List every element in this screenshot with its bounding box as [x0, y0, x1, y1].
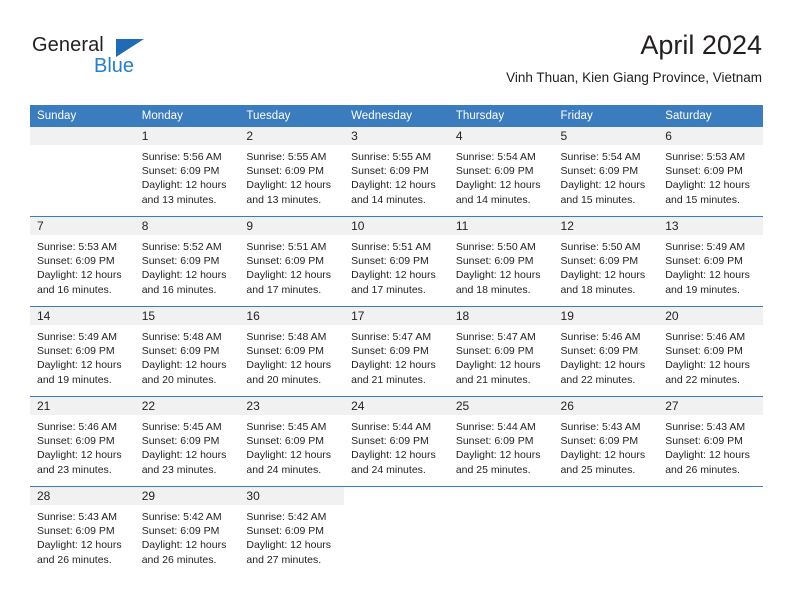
sunset-text: Sunset: 6:09 PM [142, 164, 233, 178]
daylight-text-line1: Daylight: 12 hours [456, 448, 547, 462]
daylight-text-line2: and 19 minutes. [665, 283, 756, 297]
calendar-header-row: Sunday Monday Tuesday Wednesday Thursday… [30, 105, 763, 127]
day-cell-inner: 24 Sunrise: 5:44 AM Sunset: 6:09 PM Dayl… [344, 397, 449, 486]
sunset-text: Sunset: 6:09 PM [665, 254, 756, 268]
daylight-text-line1: Daylight: 12 hours [665, 268, 756, 282]
daylight-text-line1: Daylight: 12 hours [665, 448, 756, 462]
daylight-text-line1: Daylight: 12 hours [37, 358, 128, 372]
calendar-day-cell[interactable]: 30 Sunrise: 5:42 AM Sunset: 6:09 PM Dayl… [239, 487, 344, 577]
calendar-week-row: 14 Sunrise: 5:49 AM Sunset: 6:09 PM Dayl… [30, 307, 763, 397]
calendar-day-cell[interactable]: 18 Sunrise: 5:47 AM Sunset: 6:09 PM Dayl… [449, 307, 554, 397]
weekday-header-sunday: Sunday [30, 105, 135, 127]
sunset-text: Sunset: 6:09 PM [246, 344, 337, 358]
day-details: Sunrise: 5:44 AM Sunset: 6:09 PM Dayligh… [449, 415, 554, 477]
calendar-day-cell-empty [658, 487, 763, 577]
sunrise-text: Sunrise: 5:45 AM [246, 420, 337, 434]
day-cell-inner: 11 Sunrise: 5:50 AM Sunset: 6:09 PM Dayl… [449, 217, 554, 306]
title-block: April 2024 Vinh Thuan, Kien Giang Provin… [506, 28, 762, 88]
day-number: 26 [554, 397, 659, 415]
sunset-text: Sunset: 6:09 PM [561, 254, 652, 268]
daylight-text-line1: Daylight: 12 hours [561, 358, 652, 372]
day-cell-inner: 14 Sunrise: 5:49 AM Sunset: 6:09 PM Dayl… [30, 307, 135, 396]
day-number: 21 [30, 397, 135, 415]
daylight-text-line2: and 24 minutes. [246, 463, 337, 477]
daylight-text-line2: and 15 minutes. [561, 193, 652, 207]
day-number: 10 [344, 217, 449, 235]
day-details: Sunrise: 5:54 AM Sunset: 6:09 PM Dayligh… [449, 145, 554, 207]
daylight-text-line2: and 22 minutes. [665, 373, 756, 387]
calendar-day-cell[interactable]: 24 Sunrise: 5:44 AM Sunset: 6:09 PM Dayl… [344, 397, 449, 487]
daylight-text-line2: and 14 minutes. [351, 193, 442, 207]
day-details: Sunrise: 5:56 AM Sunset: 6:09 PM Dayligh… [135, 145, 240, 207]
day-number: 9 [239, 217, 344, 235]
sunset-text: Sunset: 6:09 PM [351, 344, 442, 358]
day-details: Sunrise: 5:53 AM Sunset: 6:09 PM Dayligh… [30, 235, 135, 297]
calendar-day-cell[interactable]: 3 Sunrise: 5:55 AM Sunset: 6:09 PM Dayli… [344, 127, 449, 217]
day-details: Sunrise: 5:44 AM Sunset: 6:09 PM Dayligh… [344, 415, 449, 477]
sunset-text: Sunset: 6:09 PM [142, 254, 233, 268]
day-cell-inner: 17 Sunrise: 5:47 AM Sunset: 6:09 PM Dayl… [344, 307, 449, 396]
daylight-text-line2: and 18 minutes. [561, 283, 652, 297]
daylight-text-line1: Daylight: 12 hours [37, 448, 128, 462]
sunset-text: Sunset: 6:09 PM [37, 254, 128, 268]
day-number: 12 [554, 217, 659, 235]
day-cell-inner: 18 Sunrise: 5:47 AM Sunset: 6:09 PM Dayl… [449, 307, 554, 396]
sunrise-text: Sunrise: 5:53 AM [37, 240, 128, 254]
sunset-text: Sunset: 6:09 PM [246, 524, 337, 538]
day-number: 5 [554, 127, 659, 145]
sunrise-text: Sunrise: 5:55 AM [246, 150, 337, 164]
general-blue-logo[interactable]: General Blue [32, 34, 172, 86]
day-details: Sunrise: 5:51 AM Sunset: 6:09 PM Dayligh… [344, 235, 449, 297]
day-details: Sunrise: 5:53 AM Sunset: 6:09 PM Dayligh… [658, 145, 763, 207]
day-cell-inner [30, 127, 135, 216]
day-cell-inner: 19 Sunrise: 5:46 AM Sunset: 6:09 PM Dayl… [554, 307, 659, 396]
calendar-day-cell[interactable]: 20 Sunrise: 5:46 AM Sunset: 6:09 PM Dayl… [658, 307, 763, 397]
daylight-text-line2: and 25 minutes. [561, 463, 652, 477]
sunrise-text: Sunrise: 5:53 AM [665, 150, 756, 164]
day-number [449, 487, 554, 505]
day-details: Sunrise: 5:55 AM Sunset: 6:09 PM Dayligh… [239, 145, 344, 207]
day-cell-inner: 3 Sunrise: 5:55 AM Sunset: 6:09 PM Dayli… [344, 127, 449, 216]
sunrise-text: Sunrise: 5:55 AM [351, 150, 442, 164]
sunrise-text: Sunrise: 5:49 AM [37, 330, 128, 344]
sunset-text: Sunset: 6:09 PM [37, 434, 128, 448]
calendar-day-cell[interactable]: 7 Sunrise: 5:53 AM Sunset: 6:09 PM Dayli… [30, 217, 135, 307]
daylight-text-line1: Daylight: 12 hours [246, 358, 337, 372]
day-number: 1 [135, 127, 240, 145]
daylight-text-line1: Daylight: 12 hours [351, 268, 442, 282]
sunset-text: Sunset: 6:09 PM [246, 434, 337, 448]
day-cell-inner: 30 Sunrise: 5:42 AM Sunset: 6:09 PM Dayl… [239, 487, 344, 576]
calendar-grid: Sunday Monday Tuesday Wednesday Thursday… [30, 105, 763, 576]
daylight-text-line1: Daylight: 12 hours [456, 358, 547, 372]
calendar-day-cell[interactable]: 6 Sunrise: 5:53 AM Sunset: 6:09 PM Dayli… [658, 127, 763, 217]
daylight-text-line1: Daylight: 12 hours [351, 358, 442, 372]
calendar-day-cell[interactable]: 12 Sunrise: 5:50 AM Sunset: 6:09 PM Dayl… [554, 217, 659, 307]
daylight-text-line2: and 17 minutes. [351, 283, 442, 297]
weekday-header-thursday: Thursday [449, 105, 554, 127]
daylight-text-line1: Daylight: 12 hours [246, 268, 337, 282]
calendar-day-cell-empty [344, 487, 449, 577]
day-cell-inner: 6 Sunrise: 5:53 AM Sunset: 6:09 PM Dayli… [658, 127, 763, 216]
day-cell-inner [449, 487, 554, 576]
calendar-day-cell[interactable]: 16 Sunrise: 5:48 AM Sunset: 6:09 PM Dayl… [239, 307, 344, 397]
sunrise-text: Sunrise: 5:51 AM [351, 240, 442, 254]
logo-text-general: General [32, 34, 104, 57]
logo-text-blue: Blue [94, 55, 134, 78]
daylight-text-line1: Daylight: 12 hours [665, 358, 756, 372]
day-cell-inner: 13 Sunrise: 5:49 AM Sunset: 6:09 PM Dayl… [658, 217, 763, 306]
day-details: Sunrise: 5:42 AM Sunset: 6:09 PM Dayligh… [239, 505, 344, 567]
daylight-text-line1: Daylight: 12 hours [37, 268, 128, 282]
day-details: Sunrise: 5:55 AM Sunset: 6:09 PM Dayligh… [344, 145, 449, 207]
day-details: Sunrise: 5:49 AM Sunset: 6:09 PM Dayligh… [30, 325, 135, 387]
day-cell-inner: 12 Sunrise: 5:50 AM Sunset: 6:09 PM Dayl… [554, 217, 659, 306]
page-subtitle: Vinh Thuan, Kien Giang Province, Vietnam [506, 68, 762, 88]
calendar-day-cell[interactable]: 17 Sunrise: 5:47 AM Sunset: 6:09 PM Dayl… [344, 307, 449, 397]
day-details: Sunrise: 5:52 AM Sunset: 6:09 PM Dayligh… [135, 235, 240, 297]
daylight-text-line2: and 22 minutes. [561, 373, 652, 387]
daylight-text-line1: Daylight: 12 hours [456, 178, 547, 192]
calendar-day-cell[interactable]: 19 Sunrise: 5:46 AM Sunset: 6:09 PM Dayl… [554, 307, 659, 397]
daylight-text-line2: and 13 minutes. [142, 193, 233, 207]
day-number: 29 [135, 487, 240, 505]
sunrise-text: Sunrise: 5:49 AM [665, 240, 756, 254]
day-cell-inner: 20 Sunrise: 5:46 AM Sunset: 6:09 PM Dayl… [658, 307, 763, 396]
daylight-text-line2: and 13 minutes. [246, 193, 337, 207]
sunrise-text: Sunrise: 5:48 AM [142, 330, 233, 344]
daylight-text-line1: Daylight: 12 hours [142, 268, 233, 282]
day-number: 11 [449, 217, 554, 235]
calendar-day-cell[interactable]: 2 Sunrise: 5:55 AM Sunset: 6:09 PM Dayli… [239, 127, 344, 217]
daylight-text-line1: Daylight: 12 hours [142, 448, 233, 462]
calendar-day-cell[interactable]: 10 Sunrise: 5:51 AM Sunset: 6:09 PM Dayl… [344, 217, 449, 307]
calendar-day-cell[interactable]: 29 Sunrise: 5:42 AM Sunset: 6:09 PM Dayl… [135, 487, 240, 577]
calendar-day-cell[interactable]: 28 Sunrise: 5:43 AM Sunset: 6:09 PM Dayl… [30, 487, 135, 577]
sunset-text: Sunset: 6:09 PM [456, 164, 547, 178]
weekday-header-monday: Monday [135, 105, 240, 127]
day-details: Sunrise: 5:47 AM Sunset: 6:09 PM Dayligh… [449, 325, 554, 387]
calendar-page: General Blue April 2024 Vinh Thuan, Kien… [0, 0, 792, 612]
sunset-text: Sunset: 6:09 PM [37, 524, 128, 538]
daylight-text-line1: Daylight: 12 hours [246, 538, 337, 552]
page-title: April 2024 [506, 28, 762, 62]
day-details: Sunrise: 5:45 AM Sunset: 6:09 PM Dayligh… [135, 415, 240, 477]
sunset-text: Sunset: 6:09 PM [456, 254, 547, 268]
day-number: 16 [239, 307, 344, 325]
daylight-text-line1: Daylight: 12 hours [246, 178, 337, 192]
calendar-day-cell[interactable]: 22 Sunrise: 5:45 AM Sunset: 6:09 PM Dayl… [135, 397, 240, 487]
day-cell-inner [554, 487, 659, 576]
day-details: Sunrise: 5:45 AM Sunset: 6:09 PM Dayligh… [239, 415, 344, 477]
calendar-day-cell-empty [554, 487, 659, 577]
calendar-day-cell[interactable]: 4 Sunrise: 5:54 AM Sunset: 6:09 PM Dayli… [449, 127, 554, 217]
day-cell-inner: 29 Sunrise: 5:42 AM Sunset: 6:09 PM Dayl… [135, 487, 240, 576]
daylight-text-line2: and 21 minutes. [456, 373, 547, 387]
calendar-day-cell[interactable]: 14 Sunrise: 5:49 AM Sunset: 6:09 PM Dayl… [30, 307, 135, 397]
daylight-text-line2: and 20 minutes. [142, 373, 233, 387]
sunrise-text: Sunrise: 5:44 AM [351, 420, 442, 434]
weekday-header-wednesday: Wednesday [344, 105, 449, 127]
day-details: Sunrise: 5:43 AM Sunset: 6:09 PM Dayligh… [554, 415, 659, 477]
day-number: 14 [30, 307, 135, 325]
day-cell-inner: 8 Sunrise: 5:52 AM Sunset: 6:09 PM Dayli… [135, 217, 240, 306]
sunrise-text: Sunrise: 5:48 AM [246, 330, 337, 344]
day-number: 13 [658, 217, 763, 235]
calendar-week-row: 28 Sunrise: 5:43 AM Sunset: 6:09 PM Dayl… [30, 487, 763, 577]
sunrise-text: Sunrise: 5:43 AM [37, 510, 128, 524]
daylight-text-line2: and 24 minutes. [351, 463, 442, 477]
day-cell-inner: 4 Sunrise: 5:54 AM Sunset: 6:09 PM Dayli… [449, 127, 554, 216]
daylight-text-line2: and 26 minutes. [37, 553, 128, 567]
calendar-week-row: 21 Sunrise: 5:46 AM Sunset: 6:09 PM Dayl… [30, 397, 763, 487]
sunset-text: Sunset: 6:09 PM [351, 254, 442, 268]
day-cell-inner [344, 487, 449, 576]
day-number: 24 [344, 397, 449, 415]
sunrise-text: Sunrise: 5:50 AM [561, 240, 652, 254]
daylight-text-line2: and 16 minutes. [37, 283, 128, 297]
calendar-day-cell[interactable]: 25 Sunrise: 5:44 AM Sunset: 6:09 PM Dayl… [449, 397, 554, 487]
daylight-text-line2: and 27 minutes. [246, 553, 337, 567]
calendar-day-cell[interactable]: 1 Sunrise: 5:56 AM Sunset: 6:09 PM Dayli… [135, 127, 240, 217]
daylight-text-line1: Daylight: 12 hours [142, 358, 233, 372]
daylight-text-line1: Daylight: 12 hours [665, 178, 756, 192]
page-header: General Blue April 2024 Vinh Thuan, Kien… [30, 28, 762, 96]
sunrise-text: Sunrise: 5:50 AM [456, 240, 547, 254]
day-number: 2 [239, 127, 344, 145]
sunset-text: Sunset: 6:09 PM [351, 164, 442, 178]
day-details: Sunrise: 5:46 AM Sunset: 6:09 PM Dayligh… [30, 415, 135, 477]
daylight-text-line2: and 18 minutes. [456, 283, 547, 297]
day-cell-inner: 7 Sunrise: 5:53 AM Sunset: 6:09 PM Dayli… [30, 217, 135, 306]
day-cell-inner [658, 487, 763, 576]
day-number: 28 [30, 487, 135, 505]
day-number: 17 [344, 307, 449, 325]
day-cell-inner: 9 Sunrise: 5:51 AM Sunset: 6:09 PM Dayli… [239, 217, 344, 306]
day-number: 18 [449, 307, 554, 325]
day-number: 4 [449, 127, 554, 145]
day-number [344, 487, 449, 505]
calendar-week-row: 1 Sunrise: 5:56 AM Sunset: 6:09 PM Dayli… [30, 127, 763, 217]
day-cell-inner: 10 Sunrise: 5:51 AM Sunset: 6:09 PM Dayl… [344, 217, 449, 306]
day-cell-inner: 1 Sunrise: 5:56 AM Sunset: 6:09 PM Dayli… [135, 127, 240, 216]
day-cell-inner: 23 Sunrise: 5:45 AM Sunset: 6:09 PM Dayl… [239, 397, 344, 486]
day-number [658, 487, 763, 505]
daylight-text-line2: and 23 minutes. [142, 463, 233, 477]
sunset-text: Sunset: 6:09 PM [561, 344, 652, 358]
calendar-day-cell[interactable]: 27 Sunrise: 5:43 AM Sunset: 6:09 PM Dayl… [658, 397, 763, 487]
day-details: Sunrise: 5:54 AM Sunset: 6:09 PM Dayligh… [554, 145, 659, 207]
calendar-day-cell[interactable]: 9 Sunrise: 5:51 AM Sunset: 6:09 PM Dayli… [239, 217, 344, 307]
day-details: Sunrise: 5:46 AM Sunset: 6:09 PM Dayligh… [658, 325, 763, 387]
weekday-header-saturday: Saturday [658, 105, 763, 127]
calendar-day-cell[interactable]: 15 Sunrise: 5:48 AM Sunset: 6:09 PM Dayl… [135, 307, 240, 397]
sunrise-text: Sunrise: 5:47 AM [456, 330, 547, 344]
sunrise-text: Sunrise: 5:43 AM [665, 420, 756, 434]
sunrise-text: Sunrise: 5:42 AM [142, 510, 233, 524]
day-details [30, 145, 135, 150]
sunset-text: Sunset: 6:09 PM [456, 434, 547, 448]
day-number: 15 [135, 307, 240, 325]
day-number: 22 [135, 397, 240, 415]
sunrise-text: Sunrise: 5:54 AM [561, 150, 652, 164]
day-details: Sunrise: 5:48 AM Sunset: 6:09 PM Dayligh… [135, 325, 240, 387]
sunset-text: Sunset: 6:09 PM [246, 254, 337, 268]
day-details: Sunrise: 5:48 AM Sunset: 6:09 PM Dayligh… [239, 325, 344, 387]
sunrise-text: Sunrise: 5:46 AM [665, 330, 756, 344]
sunrise-text: Sunrise: 5:45 AM [142, 420, 233, 434]
weekday-header-tuesday: Tuesday [239, 105, 344, 127]
day-details: Sunrise: 5:43 AM Sunset: 6:09 PM Dayligh… [30, 505, 135, 567]
calendar-body: 1 Sunrise: 5:56 AM Sunset: 6:09 PM Dayli… [30, 127, 763, 576]
calendar-day-cell[interactable]: 21 Sunrise: 5:46 AM Sunset: 6:09 PM Dayl… [30, 397, 135, 487]
weekday-header-friday: Friday [554, 105, 659, 127]
day-number: 23 [239, 397, 344, 415]
sunset-text: Sunset: 6:09 PM [37, 344, 128, 358]
day-number [30, 127, 135, 145]
day-number: 27 [658, 397, 763, 415]
day-cell-inner: 21 Sunrise: 5:46 AM Sunset: 6:09 PM Dayl… [30, 397, 135, 486]
day-number: 6 [658, 127, 763, 145]
day-cell-inner: 26 Sunrise: 5:43 AM Sunset: 6:09 PM Dayl… [554, 397, 659, 486]
day-number: 19 [554, 307, 659, 325]
sunset-text: Sunset: 6:09 PM [142, 344, 233, 358]
day-cell-inner: 16 Sunrise: 5:48 AM Sunset: 6:09 PM Dayl… [239, 307, 344, 396]
calendar-day-cell[interactable] [30, 127, 135, 217]
calendar-day-cell[interactable]: 11 Sunrise: 5:50 AM Sunset: 6:09 PM Dayl… [449, 217, 554, 307]
calendar-day-cell[interactable]: 5 Sunrise: 5:54 AM Sunset: 6:09 PM Dayli… [554, 127, 659, 217]
sunrise-text: Sunrise: 5:46 AM [37, 420, 128, 434]
daylight-text-line2: and 26 minutes. [665, 463, 756, 477]
day-cell-inner: 5 Sunrise: 5:54 AM Sunset: 6:09 PM Dayli… [554, 127, 659, 216]
day-details: Sunrise: 5:47 AM Sunset: 6:09 PM Dayligh… [344, 325, 449, 387]
sunset-text: Sunset: 6:09 PM [665, 344, 756, 358]
day-number: 30 [239, 487, 344, 505]
day-cell-inner: 27 Sunrise: 5:43 AM Sunset: 6:09 PM Dayl… [658, 397, 763, 486]
day-details: Sunrise: 5:50 AM Sunset: 6:09 PM Dayligh… [554, 235, 659, 297]
day-details: Sunrise: 5:43 AM Sunset: 6:09 PM Dayligh… [658, 415, 763, 477]
day-cell-inner: 25 Sunrise: 5:44 AM Sunset: 6:09 PM Dayl… [449, 397, 554, 486]
day-number: 7 [30, 217, 135, 235]
daylight-text-line1: Daylight: 12 hours [456, 268, 547, 282]
calendar-day-cell[interactable]: 23 Sunrise: 5:45 AM Sunset: 6:09 PM Dayl… [239, 397, 344, 487]
daylight-text-line1: Daylight: 12 hours [351, 178, 442, 192]
sunset-text: Sunset: 6:09 PM [665, 434, 756, 448]
sunrise-text: Sunrise: 5:56 AM [142, 150, 233, 164]
daylight-text-line2: and 17 minutes. [246, 283, 337, 297]
daylight-text-line1: Daylight: 12 hours [246, 448, 337, 462]
sunrise-text: Sunrise: 5:51 AM [246, 240, 337, 254]
day-details: Sunrise: 5:46 AM Sunset: 6:09 PM Dayligh… [554, 325, 659, 387]
day-number: 20 [658, 307, 763, 325]
day-cell-inner: 2 Sunrise: 5:55 AM Sunset: 6:09 PM Dayli… [239, 127, 344, 216]
day-number: 25 [449, 397, 554, 415]
daylight-text-line2: and 21 minutes. [351, 373, 442, 387]
calendar-day-cell-empty [449, 487, 554, 577]
calendar-week-row: 7 Sunrise: 5:53 AM Sunset: 6:09 PM Dayli… [30, 217, 763, 307]
daylight-text-line1: Daylight: 12 hours [351, 448, 442, 462]
daylight-text-line2: and 20 minutes. [246, 373, 337, 387]
sunrise-text: Sunrise: 5:52 AM [142, 240, 233, 254]
daylight-text-line1: Daylight: 12 hours [561, 178, 652, 192]
day-number [554, 487, 659, 505]
sunset-text: Sunset: 6:09 PM [351, 434, 442, 448]
daylight-text-line1: Daylight: 12 hours [142, 538, 233, 552]
day-details: Sunrise: 5:50 AM Sunset: 6:09 PM Dayligh… [449, 235, 554, 297]
daylight-text-line2: and 23 minutes. [37, 463, 128, 477]
daylight-text-line1: Daylight: 12 hours [561, 448, 652, 462]
sunset-text: Sunset: 6:09 PM [142, 524, 233, 538]
daylight-text-line2: and 25 minutes. [456, 463, 547, 477]
day-details: Sunrise: 5:51 AM Sunset: 6:09 PM Dayligh… [239, 235, 344, 297]
sunset-text: Sunset: 6:09 PM [456, 344, 547, 358]
sunrise-text: Sunrise: 5:44 AM [456, 420, 547, 434]
sunset-text: Sunset: 6:09 PM [561, 434, 652, 448]
sunset-text: Sunset: 6:09 PM [665, 164, 756, 178]
sunrise-text: Sunrise: 5:43 AM [561, 420, 652, 434]
sunrise-text: Sunrise: 5:47 AM [351, 330, 442, 344]
daylight-text-line1: Daylight: 12 hours [142, 178, 233, 192]
sunset-text: Sunset: 6:09 PM [142, 434, 233, 448]
daylight-text-line2: and 26 minutes. [142, 553, 233, 567]
sunrise-text: Sunrise: 5:54 AM [456, 150, 547, 164]
day-cell-inner: 28 Sunrise: 5:43 AM Sunset: 6:09 PM Dayl… [30, 487, 135, 576]
day-cell-inner: 22 Sunrise: 5:45 AM Sunset: 6:09 PM Dayl… [135, 397, 240, 486]
day-details: Sunrise: 5:42 AM Sunset: 6:09 PM Dayligh… [135, 505, 240, 567]
daylight-text-line2: and 16 minutes. [142, 283, 233, 297]
sunrise-text: Sunrise: 5:42 AM [246, 510, 337, 524]
day-number: 3 [344, 127, 449, 145]
day-number: 8 [135, 217, 240, 235]
daylight-text-line2: and 19 minutes. [37, 373, 128, 387]
sunset-text: Sunset: 6:09 PM [246, 164, 337, 178]
daylight-text-line2: and 14 minutes. [456, 193, 547, 207]
day-details: Sunrise: 5:49 AM Sunset: 6:09 PM Dayligh… [658, 235, 763, 297]
sunrise-text: Sunrise: 5:46 AM [561, 330, 652, 344]
sunset-text: Sunset: 6:09 PM [561, 164, 652, 178]
calendar-day-cell[interactable]: 26 Sunrise: 5:43 AM Sunset: 6:09 PM Dayl… [554, 397, 659, 487]
daylight-text-line2: and 15 minutes. [665, 193, 756, 207]
daylight-text-line1: Daylight: 12 hours [37, 538, 128, 552]
calendar-day-cell[interactable]: 8 Sunrise: 5:52 AM Sunset: 6:09 PM Dayli… [135, 217, 240, 307]
calendar-day-cell[interactable]: 13 Sunrise: 5:49 AM Sunset: 6:09 PM Dayl… [658, 217, 763, 307]
day-cell-inner: 15 Sunrise: 5:48 AM Sunset: 6:09 PM Dayl… [135, 307, 240, 396]
daylight-text-line1: Daylight: 12 hours [561, 268, 652, 282]
